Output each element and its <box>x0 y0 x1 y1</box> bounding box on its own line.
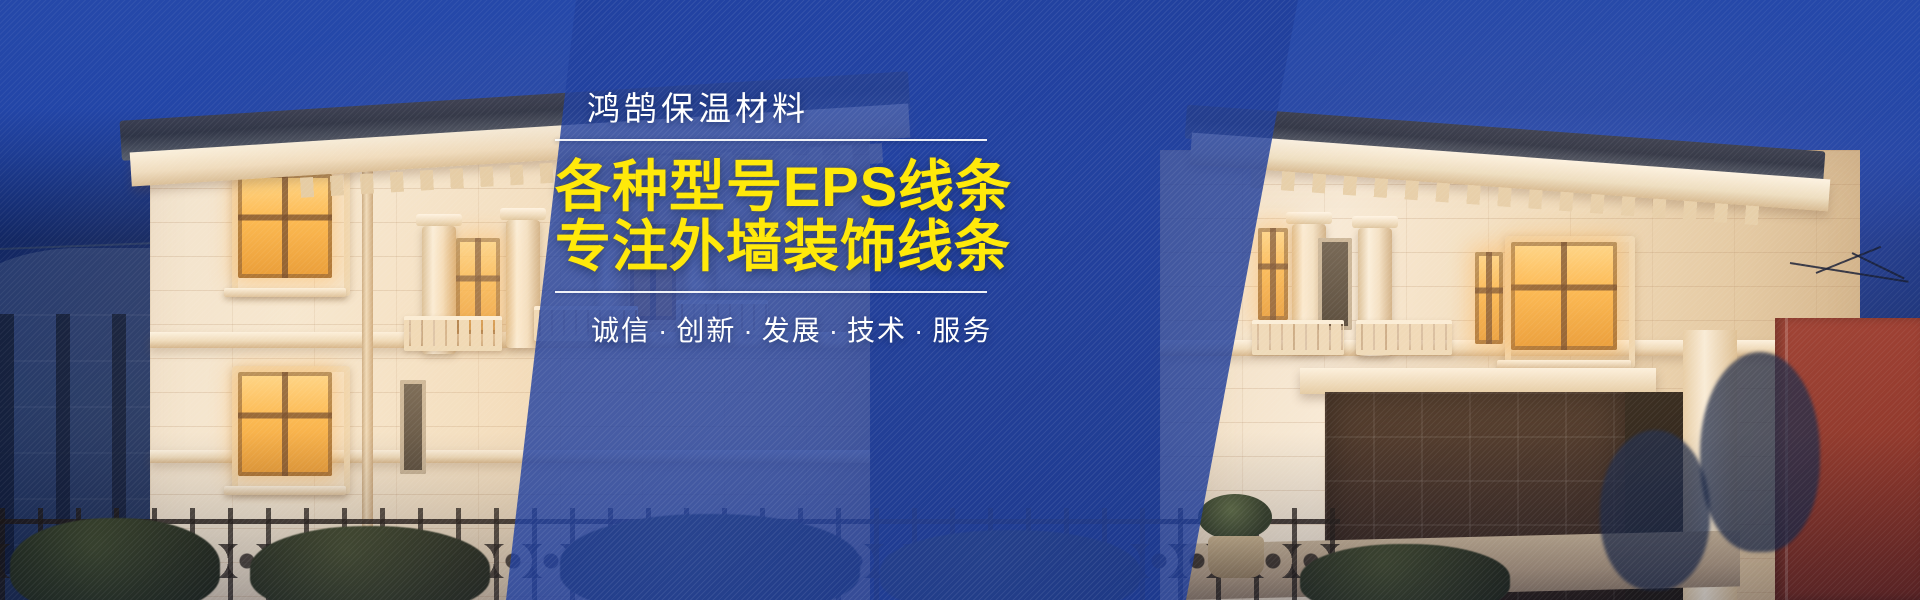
tagline-item-1: 诚信 <box>591 315 651 346</box>
divider-rule-bottom <box>555 291 987 293</box>
window-lit-right <box>1511 242 1617 350</box>
promo-banner: 鸿鹄保温材料 各种型号EPS线条 专注外墙装饰线条 诚信·创新·发展·技术·服务 <box>0 0 1920 600</box>
headline-line-1: 各种型号EPS线条 <box>555 157 1015 217</box>
shrub-2 <box>250 526 490 600</box>
brand-name: 鸿鹄保温材料 <box>587 92 1015 125</box>
shrub-1 <box>10 518 220 600</box>
window-slot-dark <box>400 380 426 474</box>
tagline-item-5: 服务 <box>932 315 992 346</box>
tagline-item-2: 创新 <box>676 315 736 346</box>
tagline: 诚信·创新·发展·技术·服务 <box>591 309 1015 349</box>
downspout-left <box>362 140 373 560</box>
banner-copy: 鸿鹄保温材料 各种型号EPS线条 专注外墙装饰线条 诚信·创新·发展·技术·服务 <box>555 92 1015 349</box>
door-dark-right <box>1318 238 1352 330</box>
headline-line-2: 专注外墙装饰线条 <box>555 217 1015 277</box>
window-lit-lower-left <box>238 372 332 476</box>
balustrade-right-1 <box>1252 320 1344 355</box>
balustrade-right-2 <box>1356 320 1452 355</box>
tagline-item-3: 发展 <box>762 315 822 346</box>
tagline-separator-2: · <box>743 315 754 346</box>
balustrade-left-1 <box>404 316 502 351</box>
tree-silhouette-2 <box>1600 430 1710 590</box>
tagline-separator-3: · <box>829 315 840 346</box>
garage-lintel <box>1300 368 1656 394</box>
window-sill-upper-left <box>224 288 346 297</box>
column-capital-6 <box>1352 216 1398 228</box>
headline-block: 各种型号EPS线条 专注外墙装饰线条 <box>555 157 1015 277</box>
shrub-5 <box>1300 544 1510 600</box>
planter-pot <box>1208 536 1264 578</box>
tagline-separator-1: · <box>658 315 669 346</box>
column-capital-1 <box>416 214 462 226</box>
shrub-4 <box>880 530 1140 600</box>
tagline-separator-4: · <box>914 315 925 346</box>
window-sill-lower-left <box>224 486 346 495</box>
shrub-3 <box>560 514 860 600</box>
potted-plant-foliage <box>1198 494 1272 540</box>
divider-rule-top <box>555 139 987 141</box>
column-capital-5 <box>1286 212 1332 224</box>
tagline-item-4: 技术 <box>847 315 907 346</box>
tree-silhouette-1 <box>1700 352 1820 552</box>
column-capital-2 <box>500 208 546 220</box>
loggia-glow-right <box>1258 228 1288 320</box>
window-lit-far-right <box>1475 252 1503 344</box>
